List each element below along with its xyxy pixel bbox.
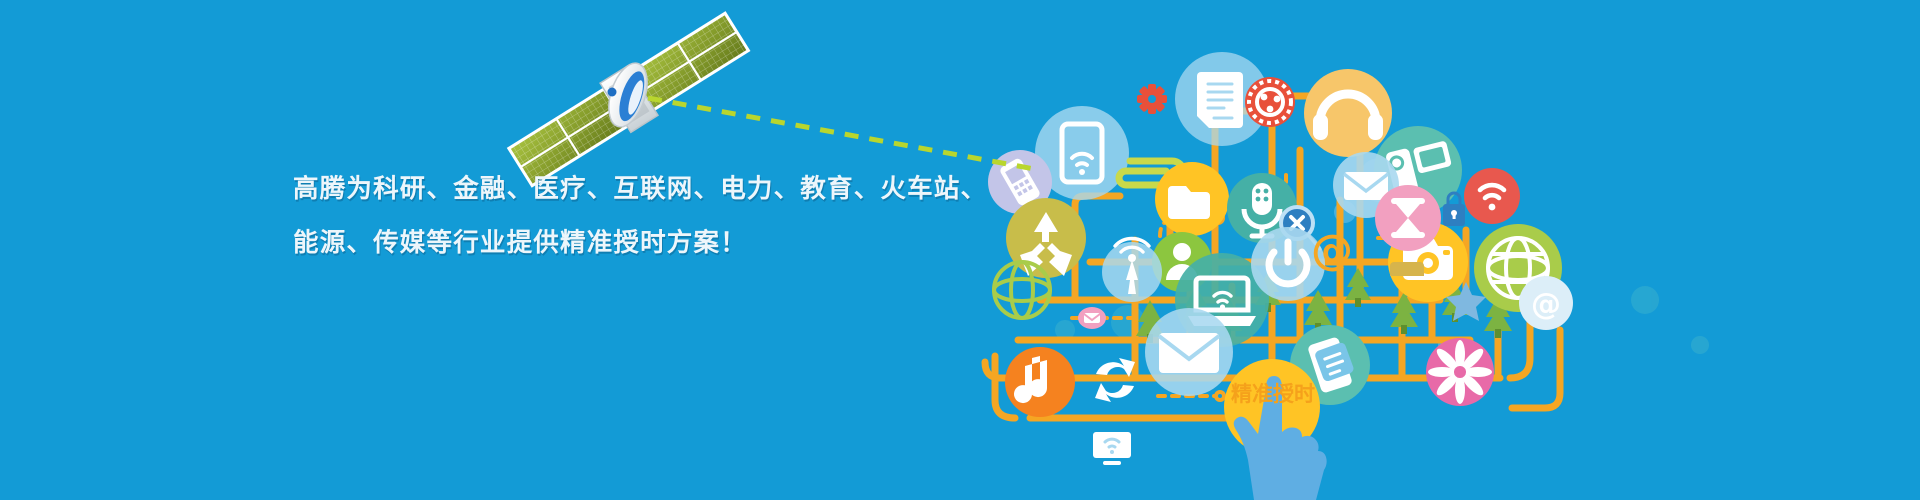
flower-icon[interactable] (1426, 338, 1494, 406)
headphones-icon[interactable] (1304, 69, 1392, 157)
at-sign-icon[interactable]: @ (1311, 225, 1353, 274)
promo-banner: @ (0, 0, 1920, 500)
pink-envelope-icon[interactable] (1078, 307, 1106, 329)
signal-beam (648, 98, 1040, 170)
at-bubble-icon[interactable]: @ (1519, 276, 1573, 330)
wifi-signal-icon[interactable] (1464, 168, 1520, 224)
folder-icon[interactable] (1155, 162, 1229, 236)
globe-wire-icon[interactable] (994, 262, 1050, 318)
gear-icon[interactable] (1137, 84, 1167, 114)
satellite (509, 13, 749, 185)
gold-note-icon[interactable] (1390, 262, 1424, 276)
svg-text:@: @ (1531, 287, 1561, 322)
network-tree-illustration: @ (0, 0, 1920, 500)
envelope-icon[interactable] (1145, 308, 1233, 396)
hub-label: 精准授时 (1230, 382, 1316, 407)
music-note-icon[interactable] (1005, 347, 1075, 417)
broadcast-tower-icon[interactable] (1102, 238, 1162, 302)
settings-gear-icon[interactable] (1245, 77, 1295, 127)
svg-text:@: @ (1311, 225, 1353, 274)
monitor-wifi-icon[interactable] (1093, 432, 1131, 465)
hourglass-icon[interactable] (1375, 185, 1441, 251)
